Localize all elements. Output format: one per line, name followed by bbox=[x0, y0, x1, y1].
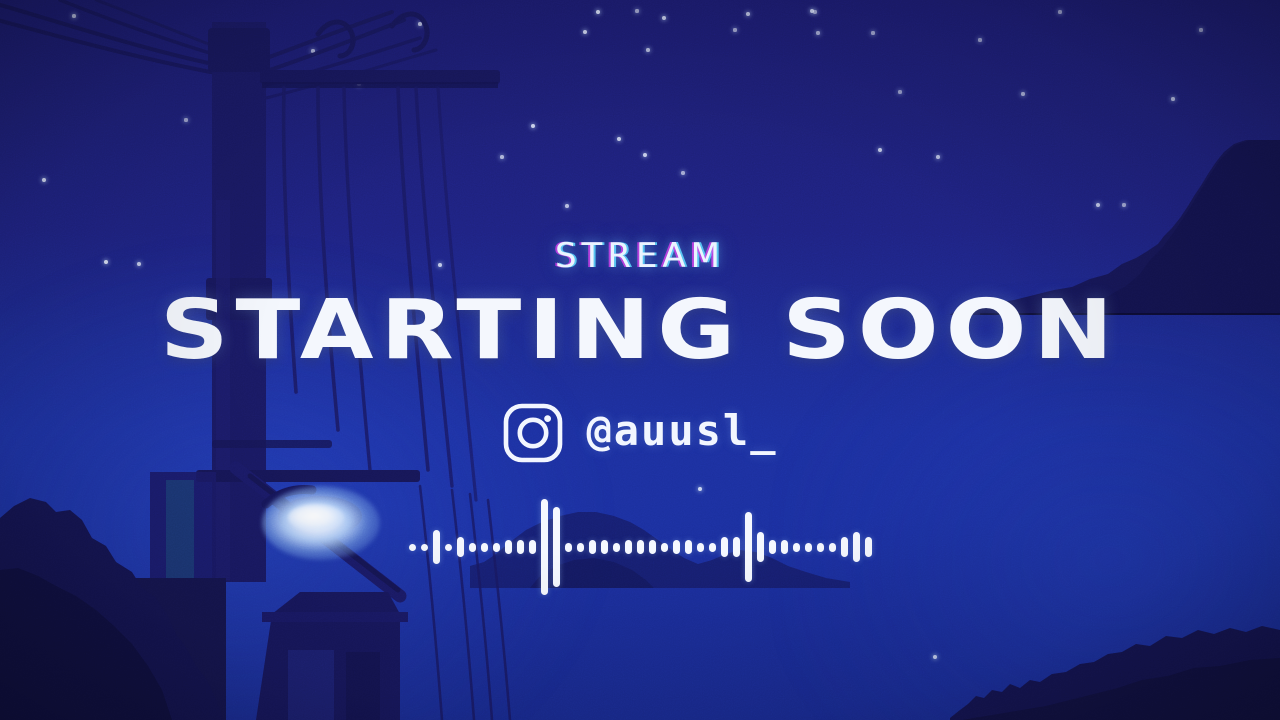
waveform-bar bbox=[517, 540, 524, 554]
waveform-bar bbox=[649, 540, 656, 554]
waveform-bar bbox=[805, 543, 812, 552]
waveform-bar bbox=[757, 532, 764, 562]
waveform-bar bbox=[817, 543, 824, 552]
waveform-bar bbox=[733, 537, 740, 557]
eyebrow-label: STREAM bbox=[0, 236, 1280, 276]
waveform-bar bbox=[709, 543, 716, 552]
waveform-bar bbox=[529, 540, 536, 554]
waveform-bar bbox=[625, 540, 632, 554]
waveform-bar bbox=[769, 540, 776, 554]
waveform-bar bbox=[613, 543, 620, 552]
waveform-bar bbox=[409, 544, 416, 551]
waveform-bar bbox=[577, 543, 584, 552]
waveform-bar bbox=[553, 507, 560, 587]
waveform-bar bbox=[421, 544, 428, 551]
instagram-handle[interactable]: @auusl_ bbox=[586, 410, 777, 456]
waveform-bar bbox=[853, 532, 860, 562]
waveform-bar bbox=[829, 543, 836, 552]
waveform-bar bbox=[481, 543, 488, 552]
waveform-bar bbox=[565, 543, 572, 552]
waveform-bar bbox=[865, 537, 872, 557]
waveform-bar bbox=[589, 540, 596, 554]
social-handle-row[interactable]: @auusl_ bbox=[0, 402, 1280, 464]
waveform-bar bbox=[793, 543, 800, 552]
audio-waveform bbox=[0, 492, 1280, 602]
overlay-content: STREAM STARTING SOON @auusl_ bbox=[0, 0, 1280, 720]
stream-overlay-stage: STREAM STARTING SOON @auusl_ bbox=[0, 0, 1280, 720]
waveform-bar bbox=[457, 537, 464, 557]
waveform-bar bbox=[721, 537, 728, 557]
waveform-bar bbox=[601, 540, 608, 554]
waveform-bar bbox=[469, 543, 476, 552]
waveform-bar bbox=[493, 543, 500, 552]
waveform-bar bbox=[841, 537, 848, 557]
waveform-bar bbox=[637, 540, 644, 554]
waveform-bar bbox=[433, 530, 440, 564]
waveform-bar bbox=[745, 512, 752, 582]
waveform-bar bbox=[541, 499, 548, 595]
waveform-bar bbox=[673, 540, 680, 554]
page-title: STARTING SOON bbox=[0, 283, 1280, 378]
waveform-bar bbox=[661, 543, 668, 552]
waveform-bar bbox=[685, 540, 692, 554]
waveform-bar bbox=[697, 543, 704, 552]
instagram-icon[interactable] bbox=[502, 402, 564, 464]
waveform-bar bbox=[781, 540, 788, 554]
waveform-bar bbox=[445, 544, 452, 551]
waveform-bar bbox=[505, 540, 512, 554]
